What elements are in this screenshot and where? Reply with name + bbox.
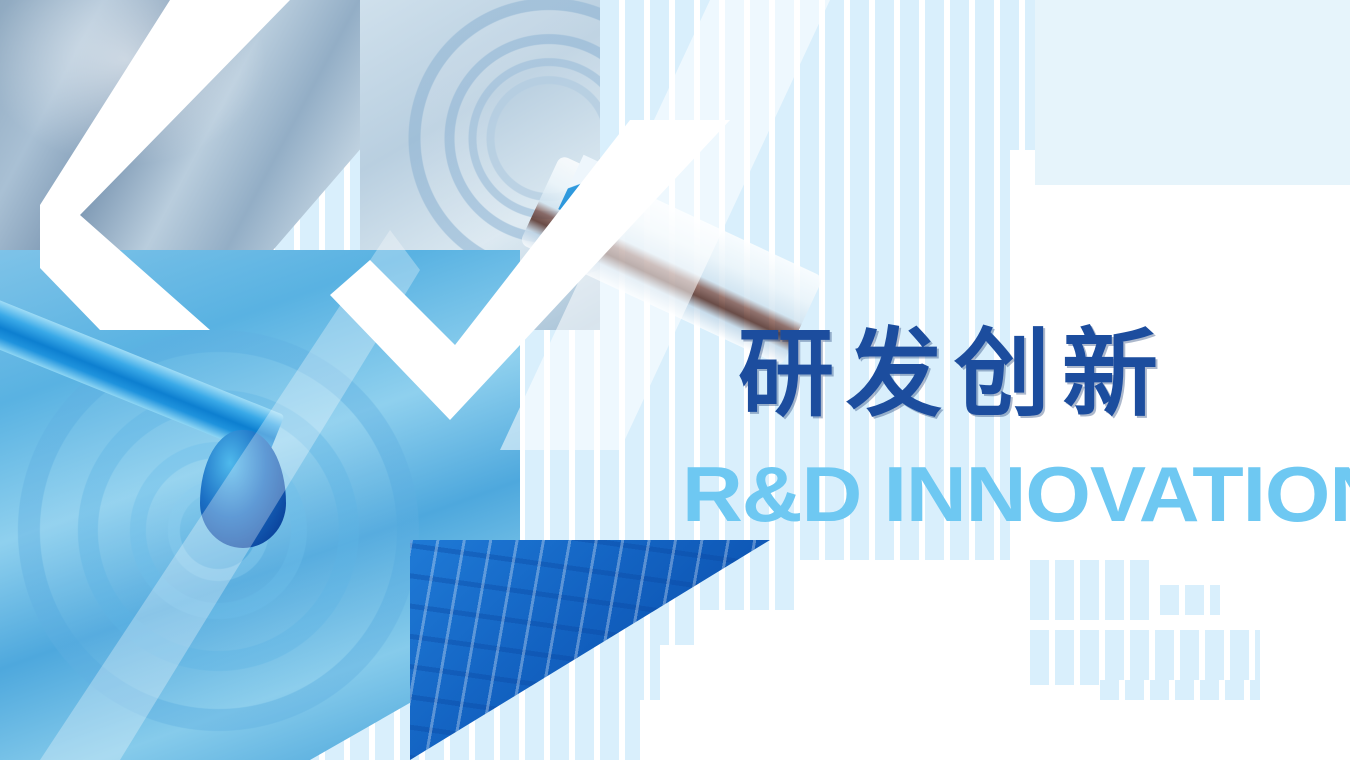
rnd-innovation-banner: 恒瑞 研发创新 R&D INNOVATION xyxy=(0,0,1350,760)
headline-chinese: 研发创新 xyxy=(738,326,1170,422)
logo-panel: 恒瑞 xyxy=(1035,0,1350,185)
headline-english: R&D INNOVATION xyxy=(682,455,1350,533)
